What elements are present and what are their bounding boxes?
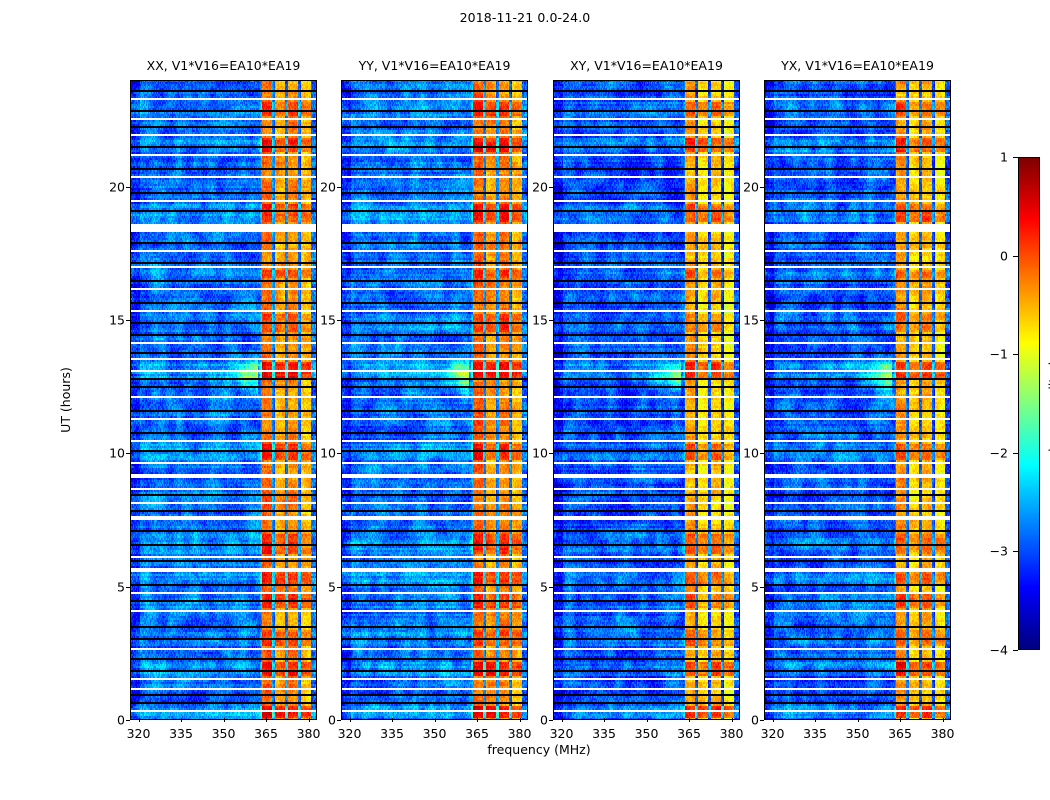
x-axis-ticklabels: 320335350365380 [764,722,951,742]
x-tick [224,718,225,722]
x-axis-ticklabels: 320335350365380 [341,722,528,742]
x-ticklabel: 335 [803,726,827,741]
y-tick [126,453,130,454]
colorbar-tick [1013,354,1018,355]
panel-yx[interactable]: YX, V1*V16=EA10*EA1932033535036538005101… [764,80,951,720]
x-axis-ticklabels: 320335350365380 [130,722,317,742]
y-tick [337,587,341,588]
y-ticklabel: 15 [320,313,336,328]
x-tick [435,718,436,722]
x-ticklabel: 380 [297,726,321,741]
y-ticklabel: 10 [743,446,759,461]
x-tick [773,718,774,722]
colorbar-label-tail: amplitude [1046,354,1050,421]
y-tick [126,720,130,721]
y-tick [337,320,341,321]
y-axis-label: UT (hours) [58,367,73,433]
y-tick [126,187,130,188]
y-tick [549,187,553,188]
waterfall-image-xx [130,80,317,720]
x-tick [900,718,901,722]
x-ticklabel: 380 [931,726,955,741]
x-tick [604,718,605,722]
colorbar-ticklabel: −3 [990,544,1008,559]
y-ticklabel: 10 [109,446,125,461]
x-ticklabel: 350 [635,726,659,741]
y-tick [337,453,341,454]
x-tick [689,718,690,722]
x-tick [732,718,733,722]
x-axis-label: frequency (MHz) [130,742,948,757]
y-tick [760,187,764,188]
x-ticklabel: 335 [592,726,616,741]
x-tick [815,718,816,722]
colorbar-ticklabel: 1 [1000,150,1008,165]
x-tick [858,718,859,722]
x-ticklabel: 320 [338,726,362,741]
panel-xy[interactable]: XY, V1*V16=EA10*EA1932033535036538005101… [553,80,740,720]
y-ticklabel: 5 [328,579,336,594]
x-ticklabel: 380 [720,726,744,741]
y-ticklabel: 20 [532,179,548,194]
y-ticklabel: 15 [532,313,548,328]
x-ticklabel: 350 [423,726,447,741]
y-ticklabel: 20 [109,179,125,194]
figure-suptitle: 2018-11-21 0.0-24.0 [0,10,1050,25]
colorbar-label-main: log [1046,433,1050,452]
x-tick [350,718,351,722]
x-axis-ticklabels: 320335350365380 [553,722,740,742]
y-tick [549,720,553,721]
y-tick [337,187,341,188]
panel-title-yx: YX, V1*V16=EA10*EA19 [781,58,934,73]
x-ticklabel: 380 [508,726,532,741]
y-tick [549,587,553,588]
panel-title-xx: XX, V1*V16=EA10*EA19 [147,58,301,73]
y-tick [760,453,764,454]
y-ticklabel: 0 [540,713,548,728]
y-tick [337,720,341,721]
x-tick [943,718,944,722]
y-ticklabel: 0 [751,713,759,728]
y-tick [549,453,553,454]
x-ticklabel: 365 [888,726,912,741]
colorbar-tick [1013,256,1018,257]
y-ticklabel: 5 [751,579,759,594]
colorbar-ticklabel: 0 [1000,248,1008,263]
x-ticklabel: 335 [169,726,193,741]
x-tick [477,718,478,722]
x-ticklabel: 320 [127,726,151,741]
colorbar-tick [1013,157,1018,158]
x-ticklabel: 365 [677,726,701,741]
y-tick [126,320,130,321]
colorbar-tick [1013,650,1018,651]
x-ticklabel: 320 [550,726,574,741]
y-tick [760,720,764,721]
x-tick [392,718,393,722]
y-ticklabel: 5 [117,579,125,594]
colorbar-ticklabel: −2 [990,445,1008,460]
y-ticklabel: 0 [117,713,125,728]
y-tick [126,587,130,588]
x-ticklabel: 335 [380,726,404,741]
y-tick [549,320,553,321]
x-ticklabel: 365 [254,726,278,741]
y-ticklabel: 20 [743,179,759,194]
panel-title-xy: XY, V1*V16=EA10*EA19 [570,58,723,73]
y-ticklabel: 5 [540,579,548,594]
x-tick [647,718,648,722]
colorbar-tick [1013,551,1018,552]
x-ticklabel: 350 [846,726,870,741]
colorbar-ticklabel: −4 [990,643,1008,658]
y-ticklabel: 20 [320,179,336,194]
y-axis-label-wrap: UT (hours) [62,0,82,800]
colorbar[interactable] [1018,157,1040,650]
y-ticklabel: 10 [320,446,336,461]
colorbar-tick [1013,453,1018,454]
y-ticklabel: 0 [328,713,336,728]
waterfall-image-yy [341,80,528,720]
y-tick [760,320,764,321]
colorbar-gradient [1019,158,1039,649]
x-ticklabel: 365 [465,726,489,741]
x-tick [266,718,267,722]
y-tick [760,587,764,588]
panel-yy[interactable]: YY, V1*V16=EA10*EA1932033535036538005101… [341,80,528,720]
panel-title-yy: YY, V1*V16=EA10*EA19 [359,58,511,73]
colorbar-ticklabel: −1 [990,347,1008,362]
panel-xx[interactable]: XX, V1*V16=EA10*EA1932033535036538005101… [130,80,317,720]
y-ticklabel: 15 [109,313,125,328]
x-tick [562,718,563,722]
x-ticklabel: 350 [212,726,236,741]
y-ticklabel: 10 [532,446,548,461]
x-tick [309,718,310,722]
x-tick [520,718,521,722]
y-ticklabel: 15 [743,313,759,328]
x-ticklabel: 320 [761,726,785,741]
waterfall-image-yx [764,80,951,720]
x-tick [139,718,140,722]
x-tick [181,718,182,722]
waterfall-image-xy [553,80,740,720]
colorbar-label: log10 amplitude [1046,354,1050,452]
figure-canvas: 2018-11-21 0.0-24.0 UT (hours) XX, V1*V1… [0,0,1050,800]
